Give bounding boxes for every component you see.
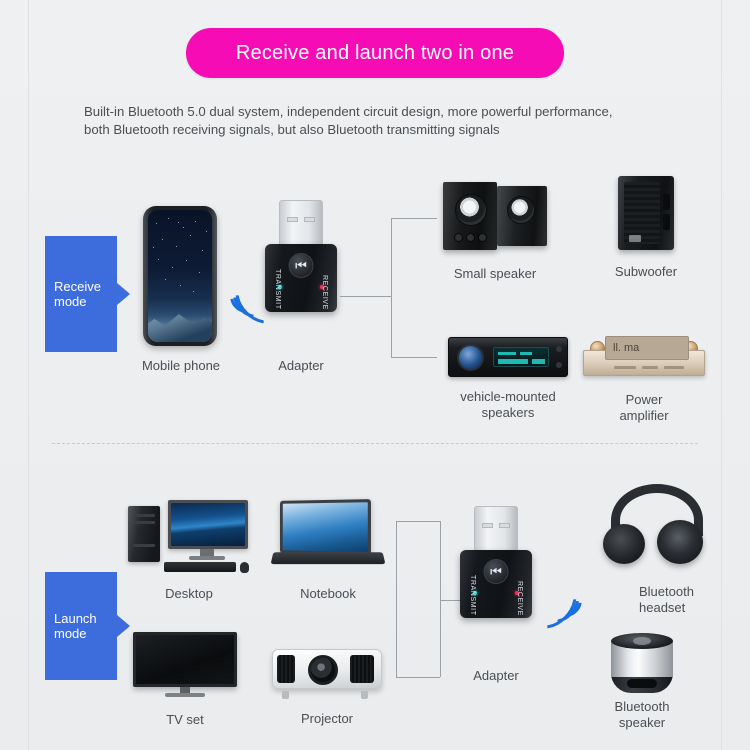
television-icon [133,632,237,698]
mouse-icon [240,562,249,573]
device-vehicle-speakers: vehicle-mounted speakers [448,337,568,417]
laptop-keyboard-base [271,552,386,564]
speaker-cabinet-left [443,182,497,250]
power-amplifier-icon: ll. ma [583,336,705,376]
usb-bluetooth-adapter-icon: ⏮ TRANSMIT RECEIVE [265,200,337,312]
device-label-subwoofer: Subwoofer [615,264,677,280]
device-notebook: Notebook [272,500,384,610]
prev-track-glyph-icon: ⏮ [490,565,502,578]
device-mobile-phone: Mobile phone [143,206,219,386]
device-label-projector: Projector [301,711,353,727]
car-stereo-icon [448,337,568,377]
connector-line [440,521,441,677]
connector-line [391,218,437,219]
arrow-tip-icon [117,283,130,305]
device-bluetooth-speaker: Bluetooth speaker [611,633,673,743]
adapter-transmit-label: TRANSMIT [469,575,476,616]
connector-line [440,600,462,601]
connector-line [391,357,437,358]
device-adapter-receive: ⏮ TRANSMIT RECEIVE Adapter [265,200,337,380]
device-tv-set: TV set [133,632,237,737]
adapter-receive-label: RECEIVE [516,581,523,616]
adapter-body: ⏮ TRANSMIT RECEIVE [460,550,532,618]
amplifier-badge: ll. ma [605,336,689,360]
connector-line [396,521,440,522]
tv-panel [133,632,237,687]
device-small-speaker: Small speaker [443,178,547,288]
subwoofer-icon [618,176,674,250]
speaker-top-button[interactable] [633,637,651,645]
device-adapter-launch: ⏮ TRANSMIT RECEIVE Adapter [460,506,532,686]
device-label-bluetooth-headset: Bluetooth headset [639,584,694,616]
speaker-top [611,633,673,649]
headphones-icon [605,484,709,566]
bookshelf-speakers-icon [443,178,547,250]
device-label-notebook: Notebook [300,586,356,602]
left-edge-rail [28,0,29,750]
amplifier-badge-text: ll. ma [613,342,639,354]
device-label-vehicle-speakers: vehicle-mounted speakers [460,389,555,421]
tv-screen [136,635,234,684]
adapter-mode-button[interactable]: ⏮ [289,253,314,278]
speaker-port [627,679,657,688]
arrow-tip-icon [117,615,130,637]
carry-handle-icon [663,194,670,210]
bluetooth-signal-waves-icon [538,572,582,632]
adapter-mode-button[interactable]: ⏮ [484,559,509,584]
stereo-display [493,347,549,367]
prev-track-glyph-icon: ⏮ [295,259,307,272]
adapter-receive-label: RECEIVE [321,275,328,310]
stereo-button[interactable] [556,346,562,352]
banner-title: Receive and launch two in one [236,42,514,65]
keyboard-icon [164,562,236,572]
projector-foot [361,691,368,699]
device-label-bluetooth-speaker: Bluetooth speaker [615,699,670,731]
projector-lens-icon [308,655,338,685]
device-power-amplifier: ll. ma Power amplifier [583,336,705,426]
launch-mode-tag: Launch mode [45,572,117,680]
receive-mode-label: Receive mode [45,279,117,309]
phone-screen [148,210,212,342]
projector-foot [282,691,289,699]
projector-icon [272,643,382,699]
portable-speaker-icon [611,633,673,695]
usb-connector-icon [474,506,518,554]
speaker-driver-icon [455,194,487,226]
projector-vent [350,655,374,683]
adapter-transmit-label: TRANSMIT [274,269,281,310]
speaker-driver-icon [507,196,535,224]
monitor-base [189,556,225,560]
usb-connector-icon [279,200,323,248]
laptop-icon [272,500,384,568]
connector-line [391,218,392,358]
tv-stand-base [165,693,205,697]
projector-vent [277,655,295,683]
device-label-desktop: Desktop [165,586,213,602]
speaker-cabinet-right [497,186,547,246]
section-divider [52,443,698,444]
title-banner: Receive and launch two in one [186,28,564,78]
desktop-computer-icon [128,500,250,572]
connector-line [396,521,397,677]
launch-mode-label: Launch mode [45,611,117,641]
connector-line [396,677,440,678]
device-label-power-amplifier: Power amplifier [619,392,668,424]
monitor-icon [168,500,248,549]
speaker-controls [454,233,487,242]
device-label-small-speaker: Small speaker [454,266,536,282]
device-desktop: Desktop [128,500,250,610]
product-description: Built-in Bluetooth 5.0 dual system, inde… [84,103,632,138]
adapter-body: ⏮ TRANSMIT RECEIVE [265,244,337,312]
connector-line [340,296,392,297]
stereo-button[interactable] [556,362,562,368]
smartphone-icon [143,206,217,346]
product-infographic: Receive and launch two in one Built-in B… [0,0,750,750]
carry-handle-icon [663,214,670,230]
monitor-screen [171,503,245,546]
laptop-screen [283,502,368,552]
receive-mode-tag: Receive mode [45,236,117,352]
volume-dial-icon [457,344,484,371]
device-label-adapter-receive: Adapter [278,358,324,374]
device-label-mobile-phone: Mobile phone [142,358,220,374]
device-projector: Projector [272,643,382,738]
ear-cup-left [603,524,645,564]
laptop-lid [280,499,371,555]
device-subwoofer: Subwoofer [618,176,674,286]
pc-tower-icon [128,506,160,562]
device-bluetooth-headset: Bluetooth headset [605,484,709,610]
device-label-adapter-launch: Adapter [473,668,519,684]
brand-logo [629,235,641,242]
right-edge-rail [721,0,722,750]
device-label-tv-set: TV set [166,712,204,728]
ear-cup-right [657,520,703,564]
usb-bluetooth-adapter-icon: ⏮ TRANSMIT RECEIVE [460,506,532,618]
